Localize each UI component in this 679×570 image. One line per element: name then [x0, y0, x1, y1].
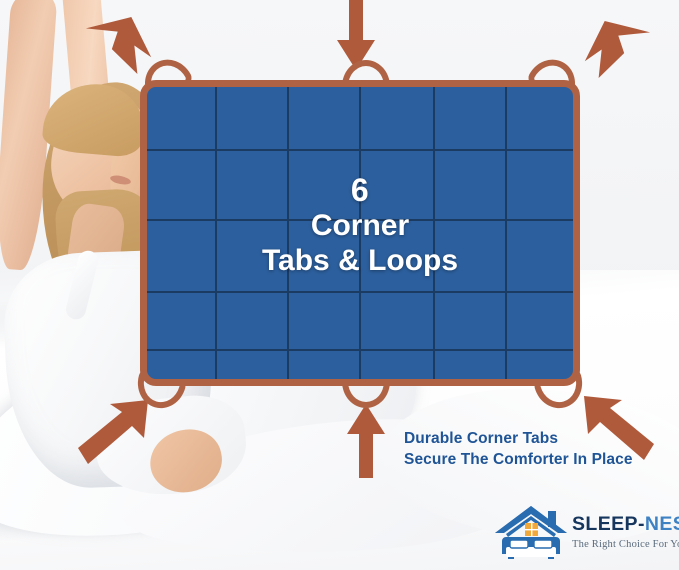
caption-line-2: Secure The Comforter In Place — [404, 449, 633, 470]
quilt-stitch-horizontal — [145, 149, 575, 151]
quilt-stitch-horizontal — [145, 219, 575, 221]
quilt-stitch-vertical — [287, 85, 289, 381]
brand-tagline: The Right Choice For You — [572, 539, 679, 550]
quilt-stitch-vertical — [505, 85, 507, 381]
brand-separator: - — [638, 513, 645, 535]
quilt-stitch-vertical — [215, 85, 217, 381]
brand-logo: SLEEP-NEST The Right Choice For You — [492, 503, 674, 565]
quilt-stitch-horizontal — [145, 291, 575, 293]
brand-part-sleep: SLEEP — [572, 513, 638, 535]
arrow-bottom-center-icon — [346, 404, 386, 478]
house-with-bed-icon — [492, 503, 570, 563]
quilt-stitch-vertical — [359, 85, 361, 381]
product-image-canvas: 6 Corner Tabs & Loops Durable Corner Tab… — [0, 0, 679, 570]
brand-part-nest: NEST — [645, 513, 679, 535]
comforter-body — [140, 80, 580, 386]
brand-wordmark: SLEEP-NEST The Right Choice For You — [572, 515, 679, 550]
caption-line-1: Durable Corner Tabs — [404, 428, 633, 449]
arrow-top-right-icon — [578, 14, 654, 90]
comforter-graphic: 6 Corner Tabs & Loops — [140, 80, 580, 386]
arrow-bottom-left-icon — [78, 396, 158, 474]
quilt-stitch-horizontal — [145, 349, 575, 351]
quilt-stitch-vertical — [433, 85, 435, 381]
caption-block: Durable Corner Tabs Secure The Comforter… — [404, 428, 633, 471]
